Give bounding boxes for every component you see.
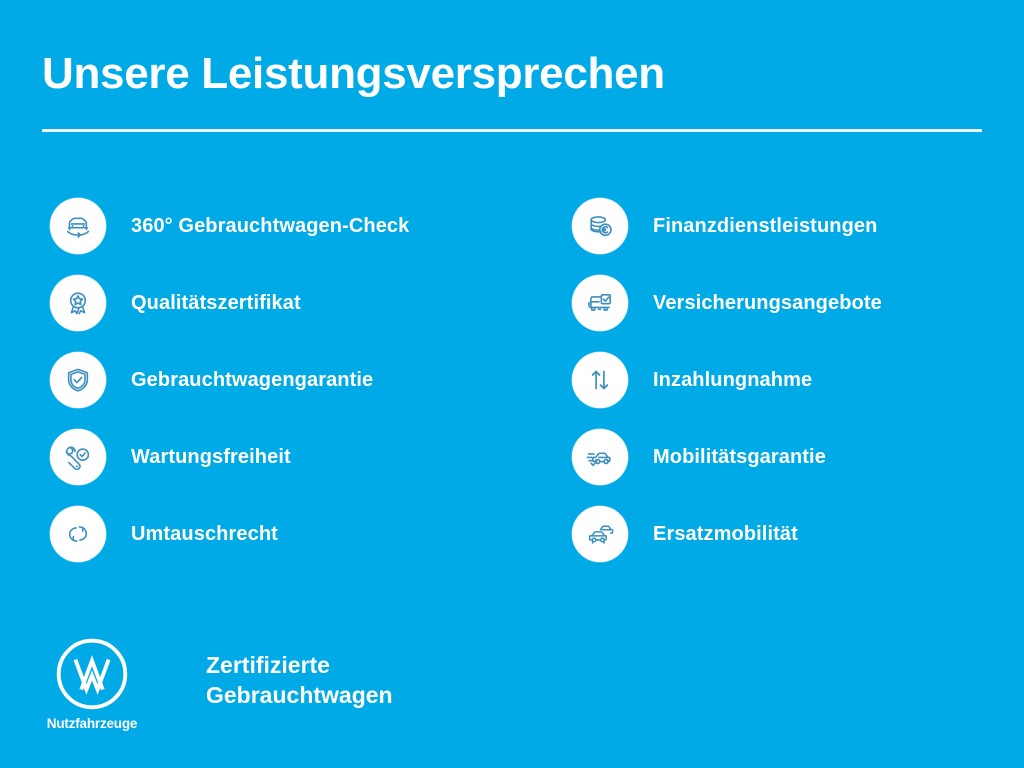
shield-check-icon: [50, 352, 106, 408]
benefits-right-column: Finanzdienstleistungen Versicherungsange…: [572, 198, 1002, 562]
up-down-arrows-icon: [572, 352, 628, 408]
header: Unsere Leistungsversprechen: [42, 48, 982, 100]
benefit-label: Ersatzmobilität: [653, 523, 798, 546]
benefit-item-gebrauchtwagengarantie[interactable]: Gebrauchtwagengarantie: [50, 352, 480, 408]
benefit-label: Qualitätszertifikat: [131, 292, 301, 315]
benefit-label: Umtauschrecht: [131, 523, 278, 546]
benefit-item-umtauschrecht[interactable]: Umtauschrecht: [50, 506, 480, 562]
benefit-item-inzahlungnahme[interactable]: Inzahlungnahme: [572, 352, 1002, 408]
benefit-label: Finanzdienstleistungen: [653, 215, 877, 238]
benefit-label: Inzahlungnahme: [653, 369, 812, 392]
benefit-label: Gebrauchtwagengarantie: [131, 369, 373, 392]
coins-euro-icon: [572, 198, 628, 254]
wrench-check-icon: [50, 429, 106, 485]
benefit-item-ersatzmobilitaet[interactable]: Ersatzmobilität: [572, 506, 1002, 562]
title-divider: [42, 129, 982, 132]
benefit-item-finanzdienstleistungen[interactable]: Finanzdienstleistungen: [572, 198, 1002, 254]
benefit-item-mobilitaetsgarantie[interactable]: Mobilitätsgarantie: [572, 429, 1002, 485]
brand-subtitle: Nutzfahrzeuge: [47, 716, 137, 731]
benefit-item-gebrauchtwagen-check[interactable]: 360° Gebrauchtwagen-Check: [50, 198, 480, 254]
car-360-check-icon: [50, 198, 106, 254]
brand-claim-line-1: Zertifizierte: [206, 650, 393, 680]
two-cars-icon: [572, 506, 628, 562]
car-checkbox-icon: [572, 275, 628, 331]
benefit-label: Wartungsfreiheit: [131, 446, 291, 469]
brand-logo: Nutzfahrzeuge: [40, 637, 144, 731]
benefit-item-versicherungsangebote[interactable]: Versicherungsangebote: [572, 275, 1002, 331]
page-title: Unsere Leistungsversprechen: [42, 48, 982, 100]
benefit-label: Versicherungsangebote: [653, 292, 882, 315]
exchange-arrows-icon: [50, 506, 106, 562]
slide-canvas: Unsere Leistungsversprechen 360° Gebrauc…: [0, 0, 1024, 768]
car-motion-icon: [572, 429, 628, 485]
benefit-label: Mobilitätsgarantie: [653, 446, 826, 469]
footer: Nutzfahrzeuge Zertifizierte Gebrauchtwag…: [40, 637, 393, 731]
benefit-item-qualitaetszertifikat[interactable]: Qualitätszertifikat: [50, 275, 480, 331]
volkswagen-roundel-logo: [55, 637, 129, 711]
benefits-left-column: 360° Gebrauchtwagen-Check Qualitätszerti…: [50, 198, 480, 562]
brand-claim-line-2: Gebrauchtwagen: [206, 680, 393, 710]
benefit-label: 360° Gebrauchtwagen-Check: [131, 215, 409, 238]
brand-claim: Zertifizierte Gebrauchtwagen: [206, 650, 393, 710]
benefit-item-wartungsfreiheit[interactable]: Wartungsfreiheit: [50, 429, 480, 485]
award-rosette-icon: [50, 275, 106, 331]
